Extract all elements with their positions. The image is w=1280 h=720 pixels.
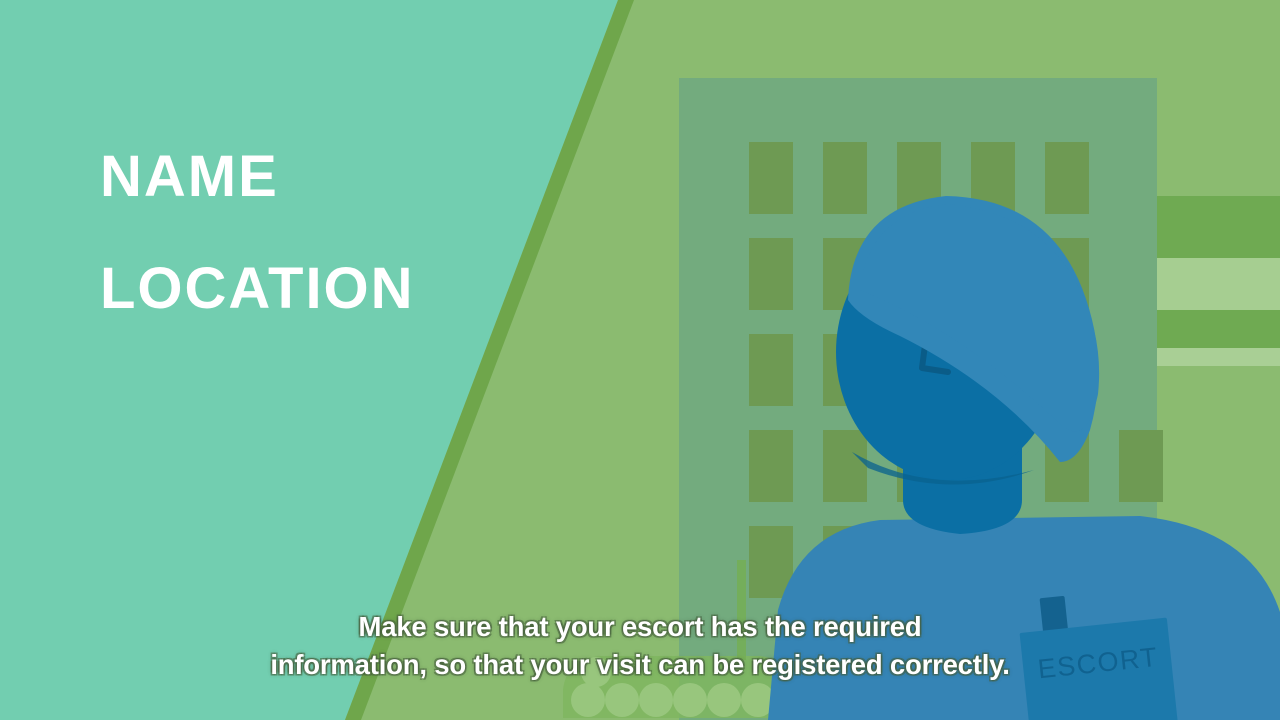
shrub-bump [571,683,605,717]
band-light-green [1157,258,1280,310]
illustration-canvas: ESCORT [0,0,1280,720]
building-window [823,430,867,502]
band-mid-green [1157,196,1280,258]
building-window [823,142,867,214]
shrub-bump [639,683,673,717]
building-window [1045,142,1089,214]
building-window [1119,430,1163,502]
figure-shirt [768,516,1280,720]
building-window [749,430,793,502]
shrub-bump [605,683,639,717]
band-pale-green [1157,348,1280,366]
building-window [749,142,793,214]
band-mid-green-2 [1157,310,1280,348]
shrub-bump [707,683,741,717]
building-window [749,334,793,406]
shrub-bump-top [581,657,611,687]
shrub-bump [673,683,707,717]
right-side-bands [1157,196,1280,366]
video-frame: ESCORT NAME LOCATION Make sure that your… [0,0,1280,720]
building-window [749,238,793,310]
shrub-trunk [737,560,746,660]
